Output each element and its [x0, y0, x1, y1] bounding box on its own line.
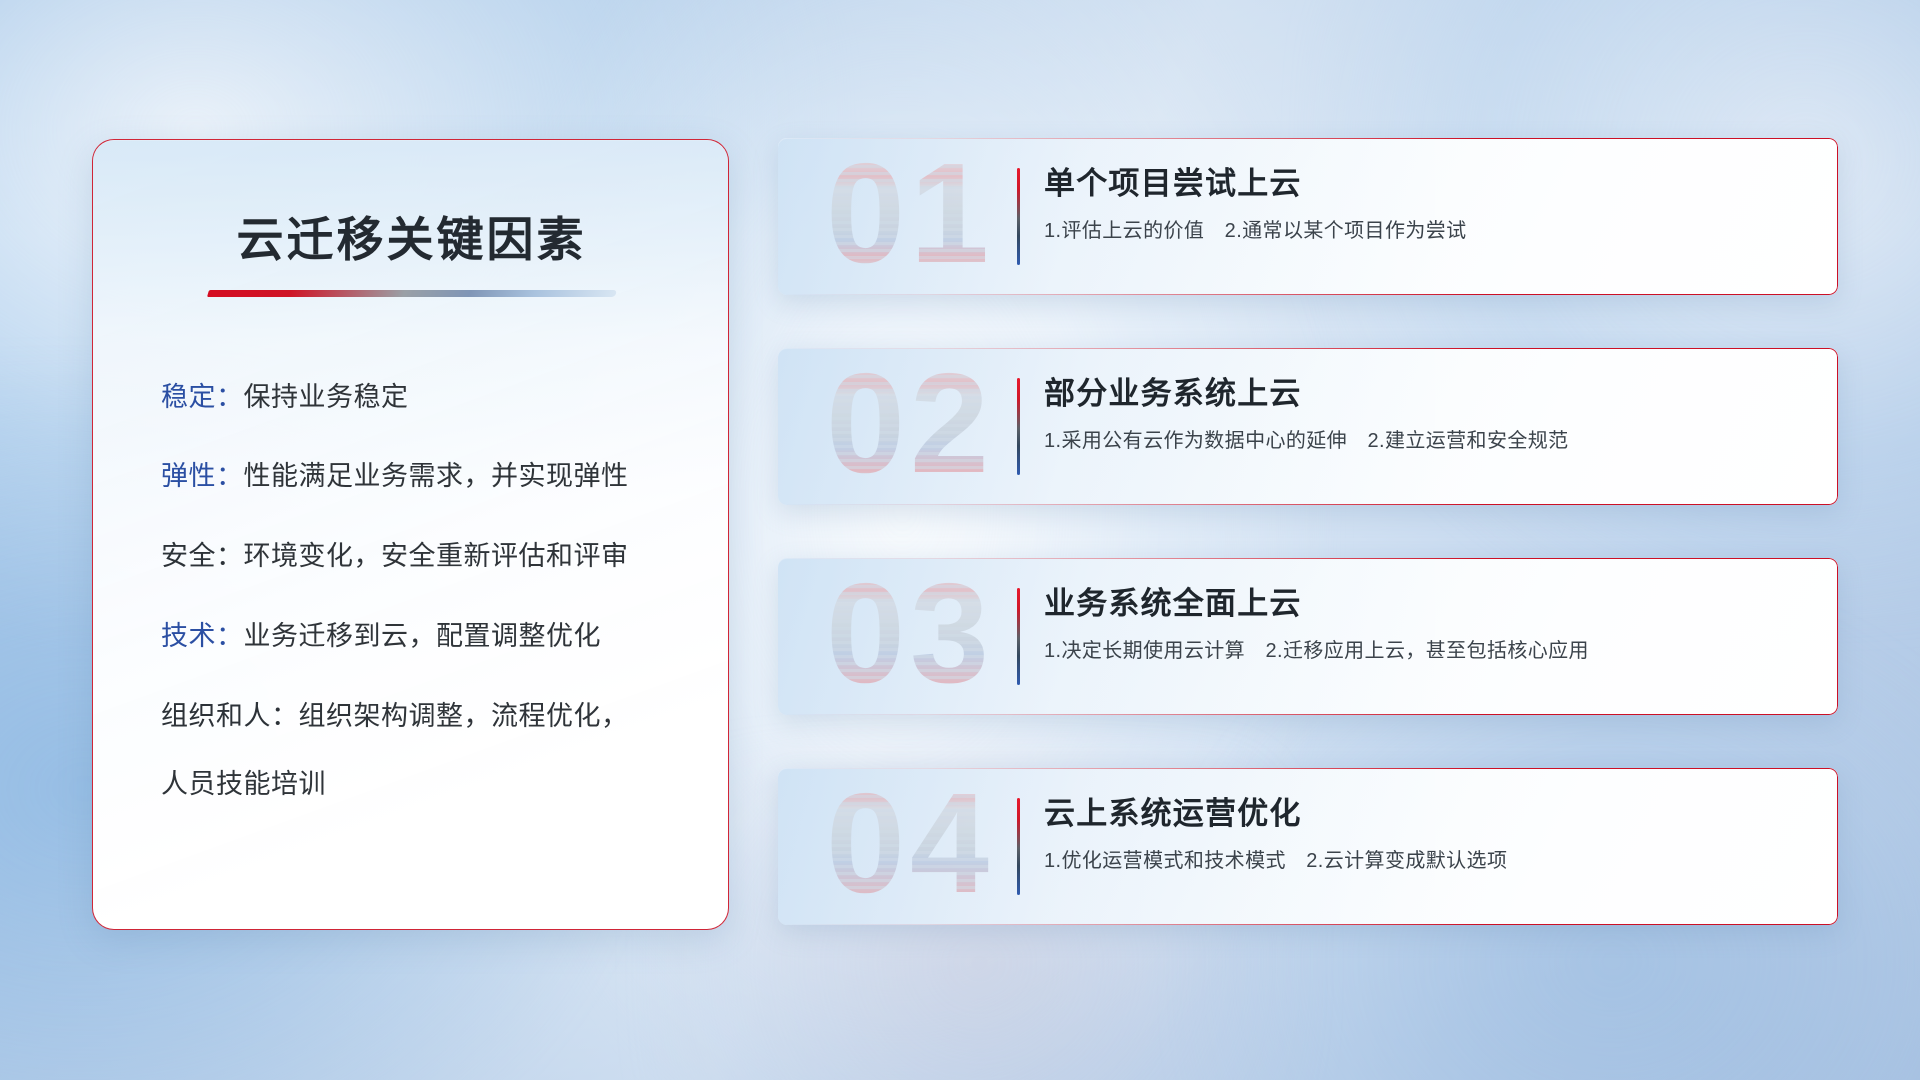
factor-item-stability: 稳定：保持业务稳定: [161, 379, 688, 416]
page-title: 云迁移关键因素: [135, 214, 688, 266]
factor-item-technology: 技术：业务迁移到云，配置调整优化: [161, 618, 688, 655]
factor-value: 保持业务稳定: [244, 382, 409, 412]
factor-item-organization-people-continued: 人员技能培训: [161, 762, 688, 801]
card-content-04: 云上系统运营优化 1.优化运营模式和技术模式 2.云计算变成默认选项: [1044, 795, 1812, 875]
card-title: 部分业务系统上云: [1044, 375, 1812, 412]
card-title: 单个项目尝试上云: [1044, 165, 1812, 202]
card-description: 1.采用公有云作为数据中心的延伸 2.建立运营和安全规范: [1044, 428, 1812, 455]
factor-value: 性能满足业务需求，并实现弹性: [244, 461, 629, 491]
factor-value: 业务迁移到云，配置调整优化: [244, 621, 602, 651]
card-accent-bar: [1017, 378, 1020, 475]
factor-item-elasticity: 弹性：性能满足业务需求，并实现弹性: [161, 458, 688, 495]
factor-item-security: 安全：环境变化，安全重新评估和评审: [161, 538, 688, 575]
key-factors-panel-inner: 云迁移关键因素 稳定：保持业务稳定 弹性：性能满足业务需求，并实现弹性 安全：环…: [93, 140, 728, 801]
card-content-03: 业务系统全面上云 1.决定长期使用云计算 2.迁移应用上云，甚至包括核心应用: [1044, 585, 1812, 665]
factor-key: 弹性：: [161, 461, 244, 491]
card-description: 1.优化运营模式和技术模式 2.云计算变成默认选项: [1044, 848, 1812, 875]
card-description: 1.评估上云的价值 2.通常以某个项目作为尝试: [1044, 218, 1812, 245]
card-accent-bar: [1017, 798, 1020, 895]
factor-key: 安全：: [161, 541, 244, 571]
factor-value: 环境变化，安全重新评估和评审: [244, 541, 629, 571]
factor-key: 技术：: [161, 621, 244, 651]
card-content-02: 部分业务系统上云 1.采用公有云作为数据中心的延伸 2.建立运营和安全规范: [1044, 375, 1812, 455]
card-accent-bar: [1017, 588, 1020, 685]
stage-card-list: 01 单个项目尝试上云 1.评估上云的价值 2.通常以某个项目作为尝试: [778, 138, 1838, 925]
title-underline-rule: [206, 290, 616, 297]
stage-number-03-striped-glyph: 03: [808, 564, 1013, 710]
factor-item-organization-people: 组织和人：组织架构调整，流程优化，: [161, 698, 688, 735]
card-accent-bar: [1017, 168, 1020, 265]
stage-number-02-striped-glyph: 02: [808, 354, 1013, 500]
stage-card-01[interactable]: 01 单个项目尝试上云 1.评估上云的价值 2.通常以某个项目作为尝试: [778, 138, 1838, 295]
card-content-01: 单个项目尝试上云 1.评估上云的价值 2.通常以某个项目作为尝试: [1044, 165, 1812, 245]
stage-card-02[interactable]: 02 部分业务系统上云 1.采用公有云作为数据中心的延伸 2.建立运营和安全规范: [778, 348, 1838, 505]
stage-card-04[interactable]: 04 云上系统运营优化 1.优化运营模式和技术模式 2.云计算变成默认选项: [778, 768, 1838, 925]
stage-number-01-striped-glyph: 01: [808, 144, 1013, 290]
stage-card-03[interactable]: 03 业务系统全面上云 1.决定长期使用云计算 2.迁移应用上云，甚至包括核心应…: [778, 558, 1838, 715]
key-factors-panel: 云迁移关键因素 稳定：保持业务稳定 弹性：性能满足业务需求，并实现弹性 安全：环…: [92, 139, 729, 930]
card-description: 1.决定长期使用云计算 2.迁移应用上云，甚至包括核心应用: [1044, 638, 1812, 665]
factor-key: 稳定：: [161, 382, 244, 412]
card-title: 云上系统运营优化: [1044, 795, 1812, 832]
factor-value: 组织架构调整，流程优化，: [299, 701, 629, 731]
card-title: 业务系统全面上云: [1044, 585, 1812, 622]
factor-list: 稳定：保持业务稳定 弹性：性能满足业务需求，并实现弹性 安全：环境变化，安全重新…: [135, 379, 688, 802]
slide-stage: 云迁移关键因素 稳定：保持业务稳定 弹性：性能满足业务需求，并实现弹性 安全：环…: [0, 0, 1920, 1080]
factor-key: 组织和人：: [161, 701, 299, 731]
stage-number-04-striped-glyph: 04: [808, 774, 1013, 920]
